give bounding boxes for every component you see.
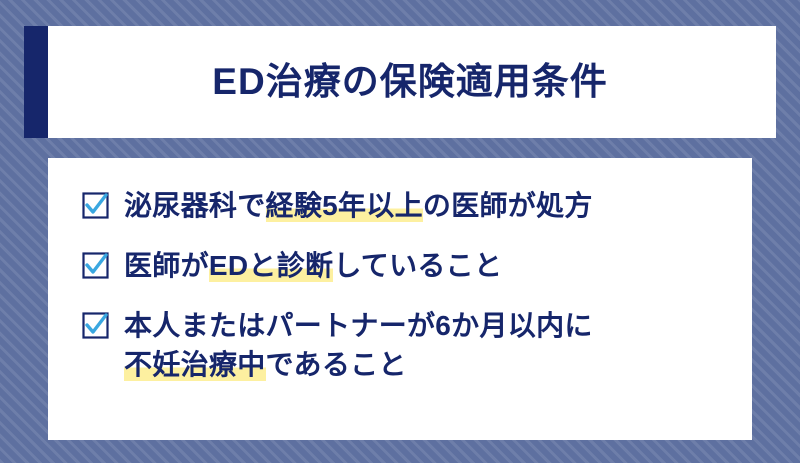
item-text-post: の医師が処方 bbox=[423, 190, 593, 221]
item-text-highlight: 経験5年以上 bbox=[266, 190, 423, 222]
slide-canvas: ED治療の保険適用条件 泌尿器科で経験5年以上の医師が処方 医師がEDと診断して… bbox=[0, 0, 800, 463]
item-text-post: であること bbox=[266, 349, 407, 380]
list-item-text: 泌尿器科で経験5年以上の医師が処方 bbox=[124, 186, 593, 226]
list-item: 本人またはパートナーが6か月以内に不妊治療中であること bbox=[82, 306, 718, 386]
list-item: 泌尿器科で経験5年以上の医師が処方 bbox=[82, 186, 718, 226]
page-title: ED治療の保険適用条件 bbox=[192, 60, 607, 104]
list-item: 医師がEDと診断していること bbox=[82, 246, 718, 286]
checklist-card: 泌尿器科で経験5年以上の医師が処方 医師がEDと診断していること 本人またはパー… bbox=[48, 158, 752, 440]
item-text-pre: 医師が bbox=[124, 250, 209, 281]
checkbox-checked-icon bbox=[82, 192, 109, 219]
item-text-highlight: 不妊治療中 bbox=[124, 349, 266, 381]
checkbox-checked-icon bbox=[82, 252, 109, 279]
checkbox-checked-icon bbox=[82, 312, 109, 339]
item-text-line1: 本人またはパートナーが6か月以内に bbox=[124, 310, 593, 341]
item-text-highlight: EDと診断 bbox=[209, 250, 333, 282]
title-bar: ED治療の保険適用条件 bbox=[24, 26, 776, 138]
list-item-text: 医師がEDと診断していること bbox=[124, 246, 502, 286]
title-accent-bar bbox=[24, 26, 48, 138]
item-text-post: していること bbox=[333, 250, 502, 281]
list-item-text: 本人またはパートナーが6か月以内に不妊治療中であること bbox=[124, 306, 593, 386]
item-text-pre: 泌尿器科で bbox=[124, 190, 266, 221]
